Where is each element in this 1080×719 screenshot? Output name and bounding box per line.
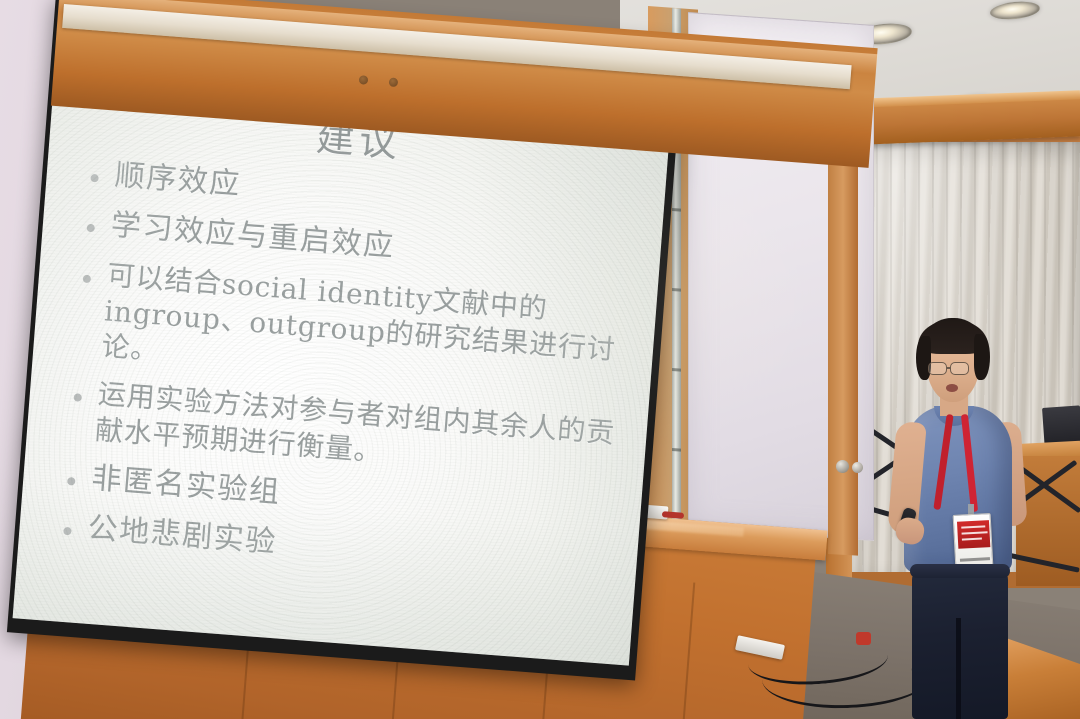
red-object: [856, 632, 871, 645]
conference-badge: [953, 513, 994, 569]
door-knob-icon[interactable]: [836, 460, 849, 473]
slide-bullet-text: 公地悲剧实验: [86, 510, 278, 563]
glasses-bridge: [947, 367, 951, 369]
bullet-dot-icon: [86, 224, 95, 233]
presentation-room-photo: 建议 顺序效应学习效应与重启效应可以结合social identity文献中的i…: [0, 0, 1080, 719]
bullet-dot-icon: [90, 174, 99, 183]
slide-bullet-text: 顺序效应: [113, 157, 242, 205]
bullet-dot-icon: [63, 527, 72, 536]
bullet-dot-icon: [67, 477, 76, 486]
presenter-mouth: [946, 384, 958, 392]
presenter-pants-seam: [956, 618, 961, 719]
presenter-hair-side: [974, 334, 990, 380]
presenter-speaker: [888, 318, 1038, 719]
presenter-waistband: [910, 564, 1010, 578]
badge-header: [957, 520, 990, 549]
door-knob-icon[interactable]: [852, 462, 863, 473]
bullet-dot-icon: [73, 393, 82, 402]
glasses-icon: [928, 362, 947, 375]
slide-bullet-text: 学习效应与重启效应: [109, 207, 396, 267]
slide-bullet-list: 顺序效应学习效应与重启效应可以结合social identity文献中的ingr…: [61, 155, 650, 601]
slide-bullet-text: 非匿名实验组: [90, 460, 282, 513]
bullet-dot-icon: [83, 274, 92, 283]
badge-name-line: [960, 557, 990, 562]
glasses-icon: [950, 362, 969, 375]
